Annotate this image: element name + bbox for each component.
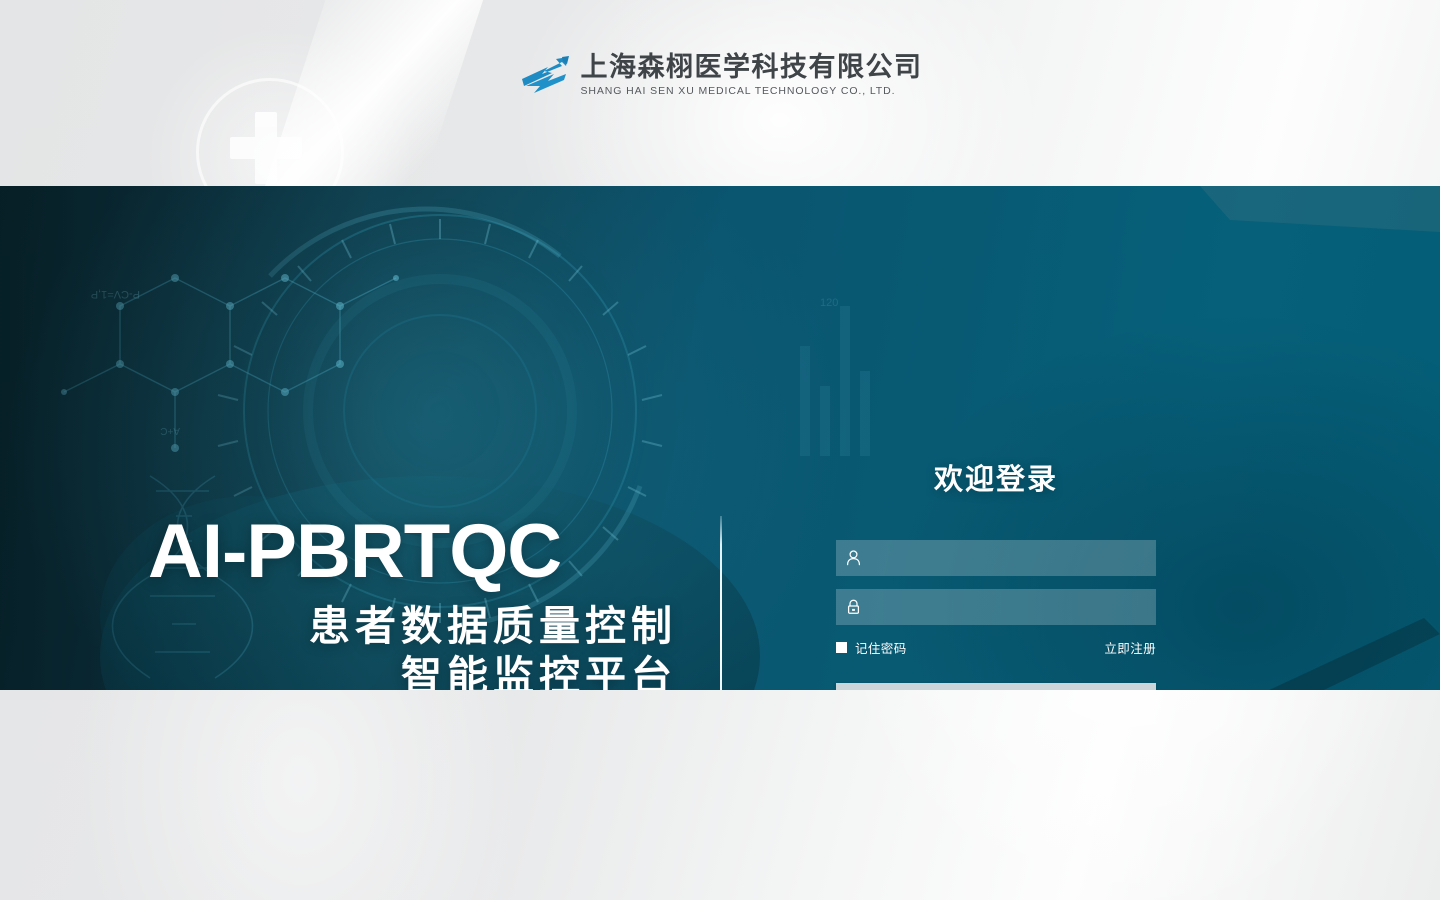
hero-subtitle-line-2: 智能监控平台 [148, 651, 693, 690]
hero-panel: P-CV=1,P A+C 120 [0, 186, 1440, 690]
lock-icon [836, 599, 870, 615]
checkbox-box-icon[interactable] [836, 642, 847, 653]
hero-title: AI-PBRTQC [148, 516, 693, 589]
company-name-en: SHANG HAI SEN XU MEDICAL TECHNOLOGY CO.,… [581, 86, 923, 97]
login-form: 欢迎登录 [836, 456, 1156, 690]
login-title: 欢迎登录 [836, 456, 1156, 498]
hero-text-block: AI-PBRTQC 患者数据质量控制 智能监控平台 [148, 516, 693, 690]
password-input[interactable] [870, 590, 1156, 624]
remember-password-label: 记住密码 [855, 638, 907, 657]
logo-text-block: 上海森栩医学科技有限公司 SHANG HAI SEN XU MEDICAL TE… [581, 54, 923, 97]
register-link[interactable]: 立即注册 [1104, 638, 1156, 657]
login-options-row: 记住密码 立即注册 [836, 638, 1156, 657]
remember-password-checkbox[interactable]: 记住密码 [836, 638, 907, 657]
sensu-s-mark-icon [518, 53, 572, 97]
user-icon [836, 550, 870, 566]
company-logo: 上海森栩医学科技有限公司 SHANG HAI SEN XU MEDICAL TE… [518, 53, 923, 97]
login-submit-button[interactable]: 登 录 [836, 683, 1156, 690]
login-page: 上海森栩医学科技有限公司 SHANG HAI SEN XU MEDICAL TE… [0, 0, 1440, 900]
company-name-cn: 上海森栩医学科技有限公司 [581, 54, 923, 81]
password-field-wrapper[interactable] [836, 589, 1156, 625]
username-input[interactable] [870, 541, 1156, 575]
vertical-divider [720, 516, 722, 690]
username-field-wrapper[interactable] [836, 540, 1156, 576]
hero-subtitle-line-1: 患者数据质量控制 [148, 601, 693, 651]
page-header: 上海森栩医学科技有限公司 SHANG HAI SEN XU MEDICAL TE… [0, 0, 1440, 186]
